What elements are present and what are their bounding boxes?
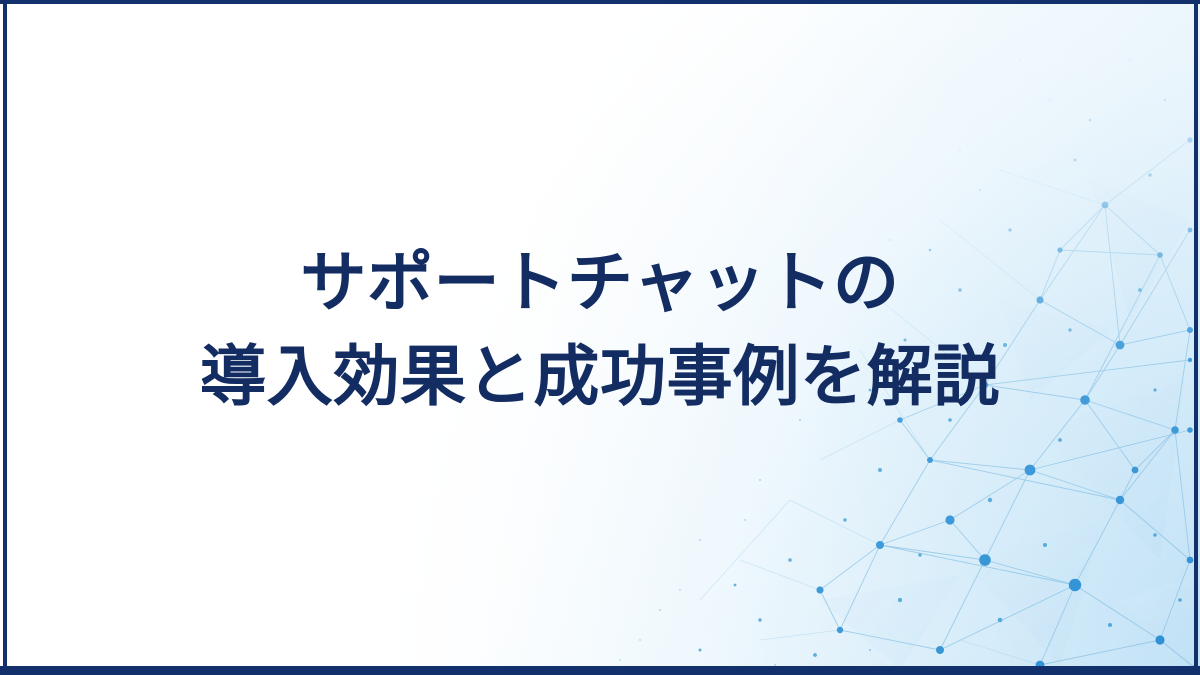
plexus-dots-small (699, 99, 1182, 657)
left-border (3, 0, 7, 675)
top-border (0, 0, 1200, 4)
title-slide: サポートチャットの 導入効果と成功事例を解説 (0, 0, 1200, 675)
right-border (1194, 0, 1198, 675)
bottom-border (0, 666, 1200, 675)
plexus-network-graphic (0, 0, 1200, 675)
